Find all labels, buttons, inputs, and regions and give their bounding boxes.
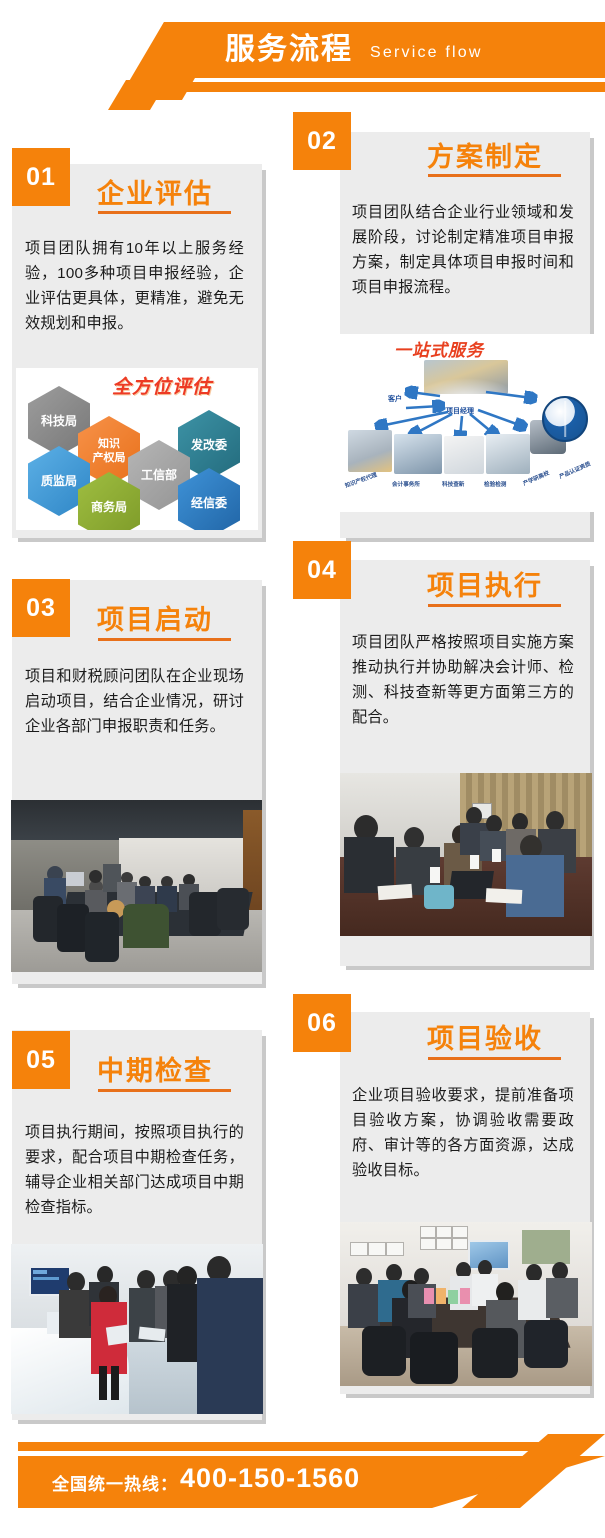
one-stop-service-diagram: 一站式服务 客户 项目经理 知识产权代理 会计事务所 科技查新 检验检测 产学研…	[336, 334, 594, 512]
step-title-rule-04	[428, 604, 561, 607]
hexagon-chart-title: 全方位评估	[112, 372, 212, 399]
oss-node-label-3: 科技查新	[442, 480, 464, 488]
oss-node-testing	[486, 434, 530, 474]
step-title-rule-06	[428, 1057, 561, 1060]
step-title-04: 项目执行	[427, 564, 543, 603]
header-band-thin	[130, 82, 605, 92]
header-band	[132, 22, 605, 78]
step-title-06: 项目验收	[427, 1017, 543, 1056]
meeting-room-photo	[11, 800, 262, 972]
step-title-01: 企业评估	[97, 172, 213, 211]
hotline-label: 全国统一热线：	[52, 1470, 178, 1495]
step-badge-02: 02	[293, 112, 351, 170]
step-badge-06: 06	[293, 994, 351, 1052]
oss-node-label-4: 检验检测	[484, 480, 506, 488]
working-session-photo	[340, 773, 592, 936]
hexagon-assessment-chart: 全方位评估 科技局 知识产权局 发改委 质监局 工信部 商务局 经信委	[16, 368, 258, 530]
oss-node-accounting	[394, 434, 442, 474]
step-title-rule-02	[428, 174, 561, 177]
step-body-05: 项目执行期间，按照项目执行的要求，配合项目中期检查任务，辅导企业相关部门达成项目…	[25, 1120, 244, 1220]
oss-node-ip	[348, 430, 392, 472]
step-badge-01: 01	[12, 148, 70, 206]
step-body-03: 项目和财税顾问团队在企业现场启动项目，结合企业情况，研讨企业各部门申报职责和任务…	[25, 664, 244, 739]
page-title: 服务流程	[225, 28, 353, 72]
oss-certification-seal-icon	[542, 396, 588, 442]
step-body-06: 企业项目验收要求，提前准备项目验收方案，协调验收需要政府、审计等的各方面资源，达…	[352, 1083, 574, 1183]
page-subtitle: Service flow	[370, 38, 483, 68]
step-title-rule-05	[98, 1089, 231, 1092]
page-footer: 全国统一热线： 400-150-1560	[0, 1434, 605, 1538]
step-title-05: 中期检查	[97, 1049, 213, 1088]
site-visit-photo	[11, 1244, 263, 1414]
step-body-02: 项目团队结合企业行业领域和发展阶段，讨论制定精准项目申报方案，制定具体项目申报时…	[352, 200, 574, 300]
oss-node-search	[444, 436, 484, 474]
step-body-04: 项目团队严格按照项目实施方案推动执行并协助解决会计师、检测、科技查新等更方面第三…	[352, 630, 574, 730]
step-badge-05: 05	[12, 1031, 70, 1089]
step-title-rule-01	[98, 211, 231, 214]
hotline-number[interactable]: 400-150-1560	[180, 1463, 360, 1494]
acceptance-meeting-photo	[340, 1222, 592, 1386]
step-badge-03: 03	[12, 579, 70, 637]
step-badge-04: 04	[293, 541, 351, 599]
step-title-rule-03	[98, 638, 231, 641]
step-title-02: 方案制定	[427, 135, 543, 174]
step-body-01: 项目团队拥有10年以上服务经验，100多种项目申报经验，企业评估更具体，更精准，…	[25, 236, 244, 336]
oss-node-label-2: 会计事务所	[392, 480, 420, 488]
footer-thin-band	[18, 1442, 578, 1451]
page-header: 服务流程 Service flow	[0, 0, 605, 110]
step-title-03: 项目启动	[97, 598, 213, 637]
